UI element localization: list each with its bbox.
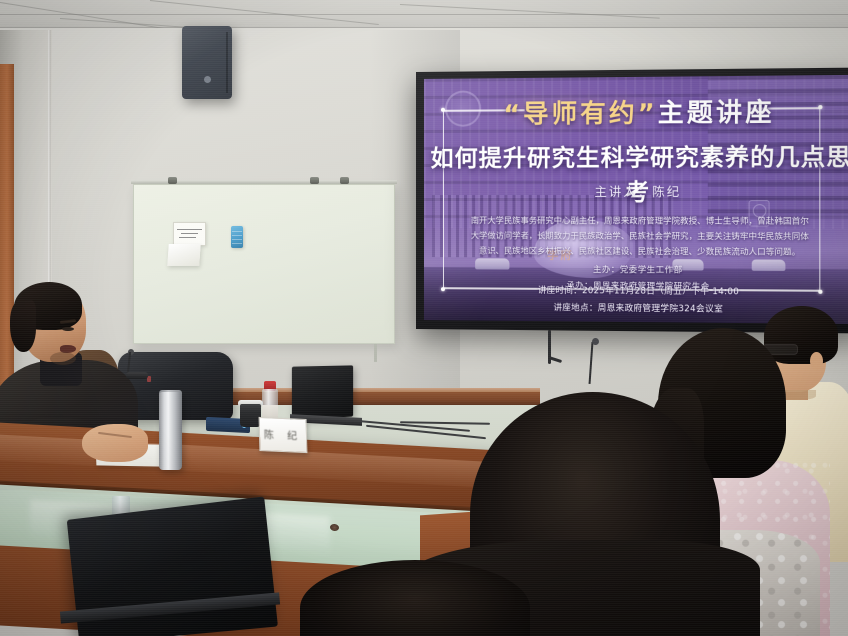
- speaker-hair-side: [10, 300, 36, 352]
- ceiling-speaker-icon: [182, 26, 232, 99]
- whiteboard-eraser-icon: [231, 226, 243, 248]
- wall-display[interactable]: 学府 “导师有约”主题讲座 如何提升研究生科学研究素养的几点思考 主讲人：陈纪 …: [416, 68, 848, 334]
- slide-bio-line: 南开大学民族事务研究中心副主任，周恩来政府管理学院教授、博士生导师，曾赴韩国首尔: [462, 213, 818, 229]
- slide-title-rest: 主题讲座: [658, 97, 775, 127]
- microphone-base: [126, 372, 148, 379]
- whiteboard-leg: [374, 344, 377, 362]
- slide-bio-line: 大学做访问学者，长期致力于民族政治学、民族社会学研究，主要关注铸牢中华民族共同体: [462, 228, 818, 244]
- speaker-hands: [82, 424, 148, 462]
- speaker-eye: [62, 327, 74, 331]
- pinned-note: [173, 222, 206, 246]
- whiteboard-clip: [310, 177, 319, 184]
- whiteboard-clip: [168, 177, 177, 184]
- steel-thermos[interactable]: [159, 392, 182, 470]
- slide-title-quoted: “导师有约”: [503, 98, 657, 128]
- table-screw: [330, 524, 339, 531]
- speaker-chin: [50, 352, 76, 365]
- folded-paper: [167, 244, 201, 266]
- laptop-computer[interactable]: [292, 365, 353, 419]
- speaker-name-card: 陈 纪: [259, 417, 308, 453]
- slide-title: “导师有约”主题讲座: [424, 91, 848, 131]
- name-card-text: 陈 纪: [260, 426, 306, 443]
- whiteboard-clip: [340, 177, 349, 184]
- slide-speaker-line: 主讲人：陈纪: [424, 182, 848, 200]
- photo-scene: 学府 “导师有约”主题讲座 如何提升研究生科学研究素养的几点思考 主讲人：陈纪 …: [0, 0, 848, 636]
- slide-bio: 南开大学民族事务研究中心副主任，周恩来政府管理学院教授、博士生导师，曾赴韩国首尔…: [462, 213, 818, 260]
- display-screen-content: 学府 “导师有约”主题讲座 如何提升研究生科学研究素养的几点思考 主讲人：陈纪 …: [424, 75, 848, 324]
- slide-bio-line: 意识、民族地区乡村振兴、民族社区建设、民族社会治理、少数民族流动人口等问题。: [462, 243, 818, 260]
- door-frame: [0, 64, 14, 394]
- desk-microphone-icon[interactable]: [592, 338, 599, 345]
